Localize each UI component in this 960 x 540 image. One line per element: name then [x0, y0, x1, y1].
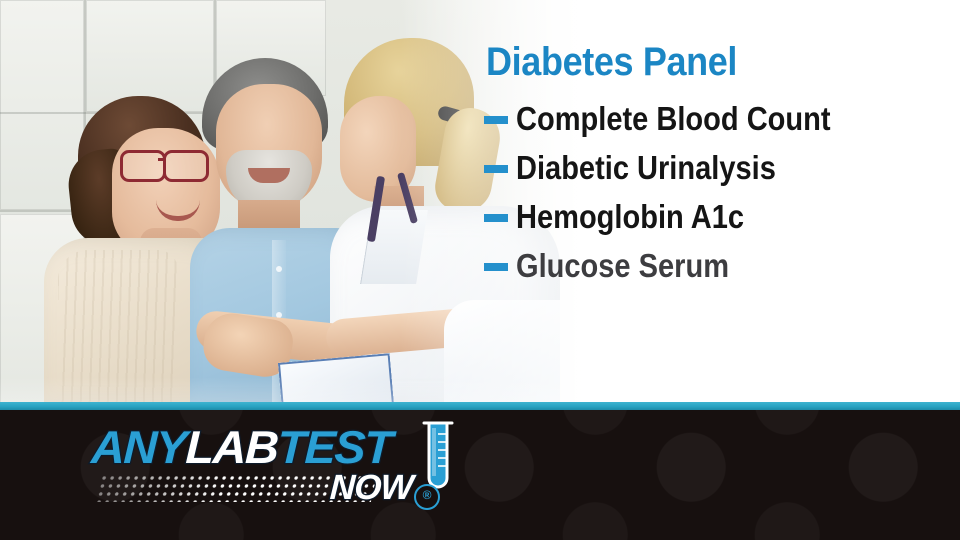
list-item: Diabetic Urinalysis — [484, 147, 954, 187]
list-item-label: Glucose Serum — [516, 249, 729, 282]
dash-bullet-icon — [484, 116, 508, 124]
promo-slide: Diabetes Panel Complete Blood Count Diab… — [0, 0, 960, 540]
dash-bullet-icon — [484, 165, 508, 173]
list-item-label: Complete Blood Count — [516, 102, 831, 135]
list-item-label: Diabetic Urinalysis — [516, 151, 776, 184]
teal-divider-bar — [0, 402, 960, 410]
woman-eyeglasses-right-lens — [163, 150, 209, 182]
dash-bullet-icon — [484, 263, 508, 271]
clinician-sleeve — [444, 300, 560, 408]
logo-wordmark: ANYLABTEST — [90, 424, 392, 470]
list-item: Glucose Serum — [484, 245, 954, 285]
man-shirt-button — [276, 266, 282, 272]
any-lab-test-now-logo[interactable]: ANYLABTEST NOW ® — [92, 424, 482, 512]
list-item-label: Hemoglobin A1c — [516, 200, 744, 233]
woman-cardigan-texture — [58, 250, 178, 408]
diabetes-panel-text: Diabetes Panel Complete Blood Count Diab… — [484, 42, 954, 294]
list-item: Complete Blood Count — [484, 98, 954, 138]
logo-word-now: NOW — [329, 468, 414, 508]
logo-word-any: ANY — [90, 421, 186, 473]
list-item: Hemoglobin A1c — [484, 196, 954, 236]
page-title: Diabetes Panel — [486, 42, 907, 82]
registered-trademark-icon: ® — [414, 484, 440, 510]
logo-word-test: TEST — [277, 421, 393, 473]
logo-word-lab: LAB — [185, 421, 279, 473]
clipboard — [278, 353, 394, 408]
wall-cabinet-panel — [86, 0, 214, 112]
woman-eyeglasses-bridge — [158, 158, 166, 161]
woman-eyeglasses-left-lens — [120, 150, 166, 182]
dash-bullet-icon — [484, 214, 508, 222]
